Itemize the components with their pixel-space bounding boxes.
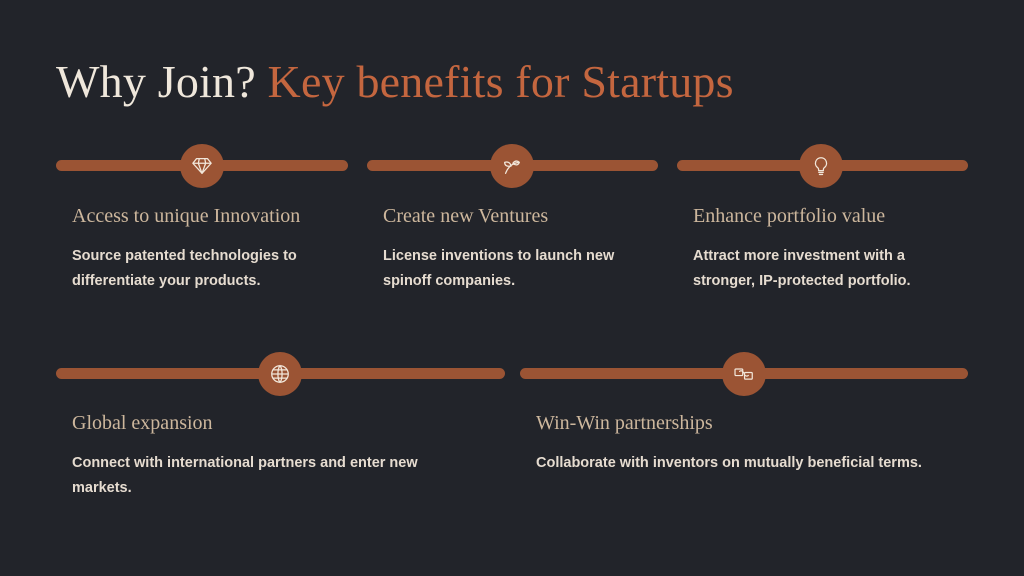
page-title-accent: Key benefits for Startups bbox=[268, 56, 734, 107]
benefit-heading-1: Access to unique Innovation bbox=[72, 203, 342, 230]
benefit-icon-badge-1 bbox=[180, 144, 224, 188]
lightbulb-icon bbox=[810, 155, 832, 177]
benefit-body-5: Collaborate with inventors on mutually b… bbox=[536, 451, 976, 476]
benefit-block-3: Enhance portfolio value Attract more inv… bbox=[693, 203, 955, 294]
globe-icon bbox=[269, 363, 291, 385]
benefit-body-1: Source patented technologies to differen… bbox=[72, 244, 342, 294]
benefit-icon-badge-3 bbox=[799, 144, 843, 188]
benefit-heading-4: Global expansion bbox=[72, 410, 472, 437]
benefit-icon-badge-5 bbox=[722, 352, 766, 396]
slide-canvas: Why Join? Key benefits for Startups bbox=[0, 0, 1024, 576]
benefit-icon-badge-2 bbox=[490, 144, 534, 188]
sprout-icon bbox=[501, 155, 523, 177]
page-title: Why Join? Key benefits for Startups bbox=[56, 54, 734, 110]
handshake-icon bbox=[733, 363, 755, 385]
benefit-block-4: Global expansion Connect with internatio… bbox=[72, 410, 472, 501]
diamond-icon bbox=[191, 155, 213, 177]
benefit-heading-3: Enhance portfolio value bbox=[693, 203, 955, 230]
benefit-icon-badge-4 bbox=[258, 352, 302, 396]
benefit-block-2: Create new Ventures License inventions t… bbox=[383, 203, 653, 294]
benefit-body-3: Attract more investment with a stronger,… bbox=[693, 244, 955, 294]
benefit-body-4: Connect with international partners and … bbox=[72, 451, 472, 501]
benefit-block-5: Win-Win partnerships Collaborate with in… bbox=[536, 410, 976, 476]
benefit-heading-5: Win-Win partnerships bbox=[536, 410, 976, 437]
page-title-lead: Why Join? bbox=[56, 56, 256, 107]
benefit-body-2: License inventions to launch new spinoff… bbox=[383, 244, 653, 294]
benefit-heading-2: Create new Ventures bbox=[383, 203, 653, 230]
benefit-block-1: Access to unique Innovation Source paten… bbox=[72, 203, 342, 294]
